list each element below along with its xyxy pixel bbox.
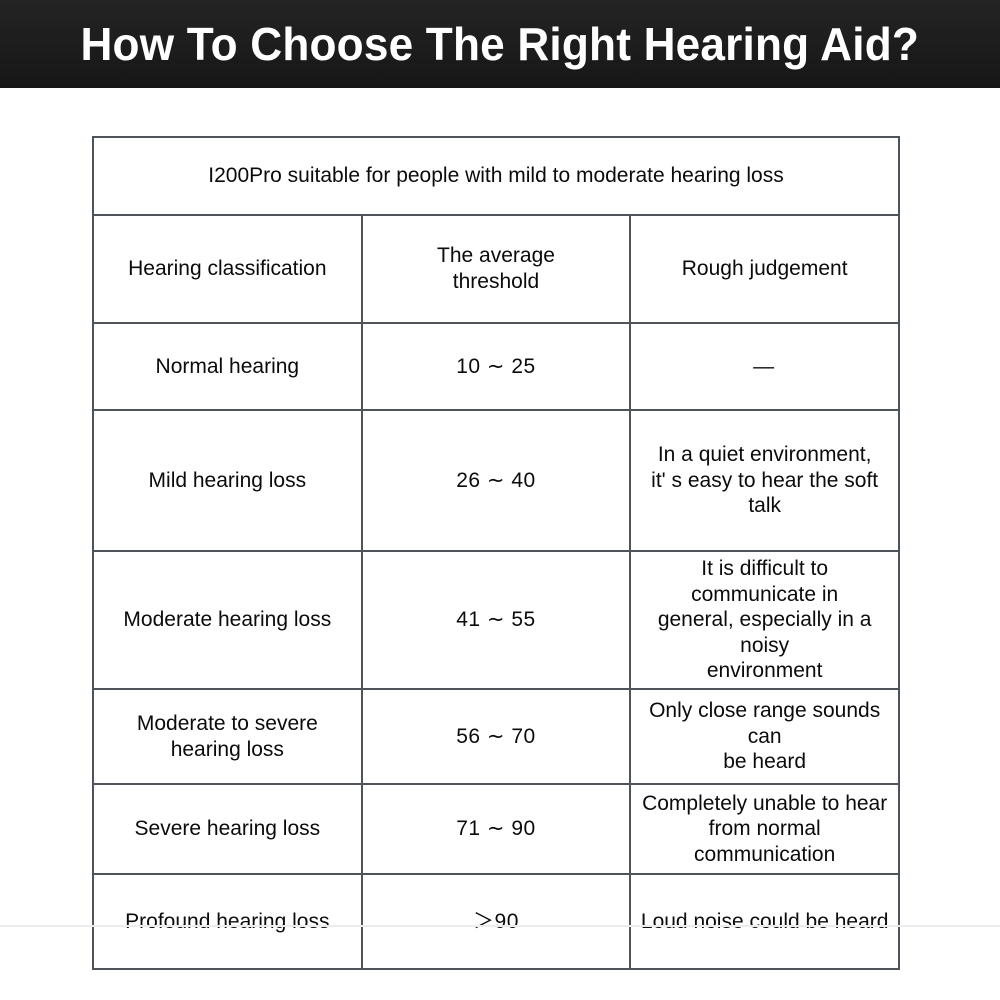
cell-judgement: — bbox=[630, 323, 899, 410]
judgement-line1: It is difficult to communicate in bbox=[691, 557, 838, 606]
classification-line2: hearing loss bbox=[171, 738, 284, 761]
page-title: How To Choose The Right Hearing Aid? bbox=[81, 21, 920, 67]
header-cell-classification: Hearing classification bbox=[93, 215, 362, 323]
cell-judgement: Completely unable to hear from normal co… bbox=[630, 784, 899, 874]
cell-classification: Moderate hearing loss bbox=[93, 551, 362, 689]
table-header-row: Hearing classification The average thres… bbox=[93, 215, 899, 323]
header-threshold-line2: threshold bbox=[453, 270, 539, 293]
header-cell-judgement: Rough judgement bbox=[630, 215, 899, 323]
cell-classification: Profound hearing loss bbox=[93, 874, 362, 969]
cell-judgement: It is difficult to communicate in genera… bbox=[630, 551, 899, 689]
cell-classification: Normal hearing bbox=[93, 323, 362, 410]
table-row: Severe hearing loss 71 ∼ 90 Completely u… bbox=[93, 784, 899, 874]
judgement-line2: be heard bbox=[723, 750, 806, 773]
cell-judgement: Loud noise could be heard bbox=[630, 874, 899, 969]
cell-threshold: 71 ∼ 90 bbox=[362, 784, 631, 874]
cell-classification: Severe hearing loss bbox=[93, 784, 362, 874]
table-row: Moderate to severe hearing loss 56 ∼ 70 … bbox=[93, 689, 899, 784]
hearing-classification-table: I200Pro suitable for people with mild to… bbox=[92, 136, 900, 970]
table-row: Normal hearing 10 ∼ 25 — bbox=[93, 323, 899, 410]
judgement-line2: from normal communication bbox=[694, 817, 835, 866]
cell-classification: Mild hearing loss bbox=[93, 410, 362, 551]
cell-judgement: In a quiet environment, it' s easy to he… bbox=[630, 410, 899, 551]
cell-threshold: 41 ∼ 55 bbox=[362, 551, 631, 689]
cell-judgement: Only close range sounds can be heard bbox=[630, 689, 899, 784]
judgement-line1: Completely unable to hear bbox=[642, 792, 887, 815]
header-threshold-line1: The average bbox=[437, 244, 555, 267]
header-cell-threshold: The average threshold bbox=[362, 215, 631, 323]
cell-threshold: ＞90 bbox=[362, 874, 631, 969]
table-row: Mild hearing loss 26 ∼ 40 In a quiet env… bbox=[93, 410, 899, 551]
table-title-row: I200Pro suitable for people with mild to… bbox=[93, 137, 899, 215]
cell-threshold: 26 ∼ 40 bbox=[362, 410, 631, 551]
footer-divider bbox=[0, 925, 1000, 927]
judgement-line2: general, especially in a noisy bbox=[658, 608, 872, 657]
judgement-line1: In a quiet environment, bbox=[658, 443, 872, 466]
cell-threshold: 56 ∼ 70 bbox=[362, 689, 631, 784]
judgement-line2: it' s easy to hear the soft talk bbox=[651, 469, 878, 518]
hearing-loss-table-container: I200Pro suitable for people with mild to… bbox=[92, 136, 900, 886]
table-row: Profound hearing loss ＞90 Loud noise cou… bbox=[93, 874, 899, 969]
cell-threshold: 10 ∼ 25 bbox=[362, 323, 631, 410]
cell-classification: Moderate to severe hearing loss bbox=[93, 689, 362, 784]
table-title-cell: I200Pro suitable for people with mild to… bbox=[93, 137, 899, 215]
table-row: Moderate hearing loss 41 ∼ 55 It is diff… bbox=[93, 551, 899, 689]
classification-line1: Moderate to severe bbox=[137, 712, 318, 735]
judgement-line3: environment bbox=[707, 659, 823, 682]
page-banner: How To Choose The Right Hearing Aid? bbox=[0, 0, 1000, 88]
judgement-line1: Only close range sounds can bbox=[649, 699, 880, 748]
